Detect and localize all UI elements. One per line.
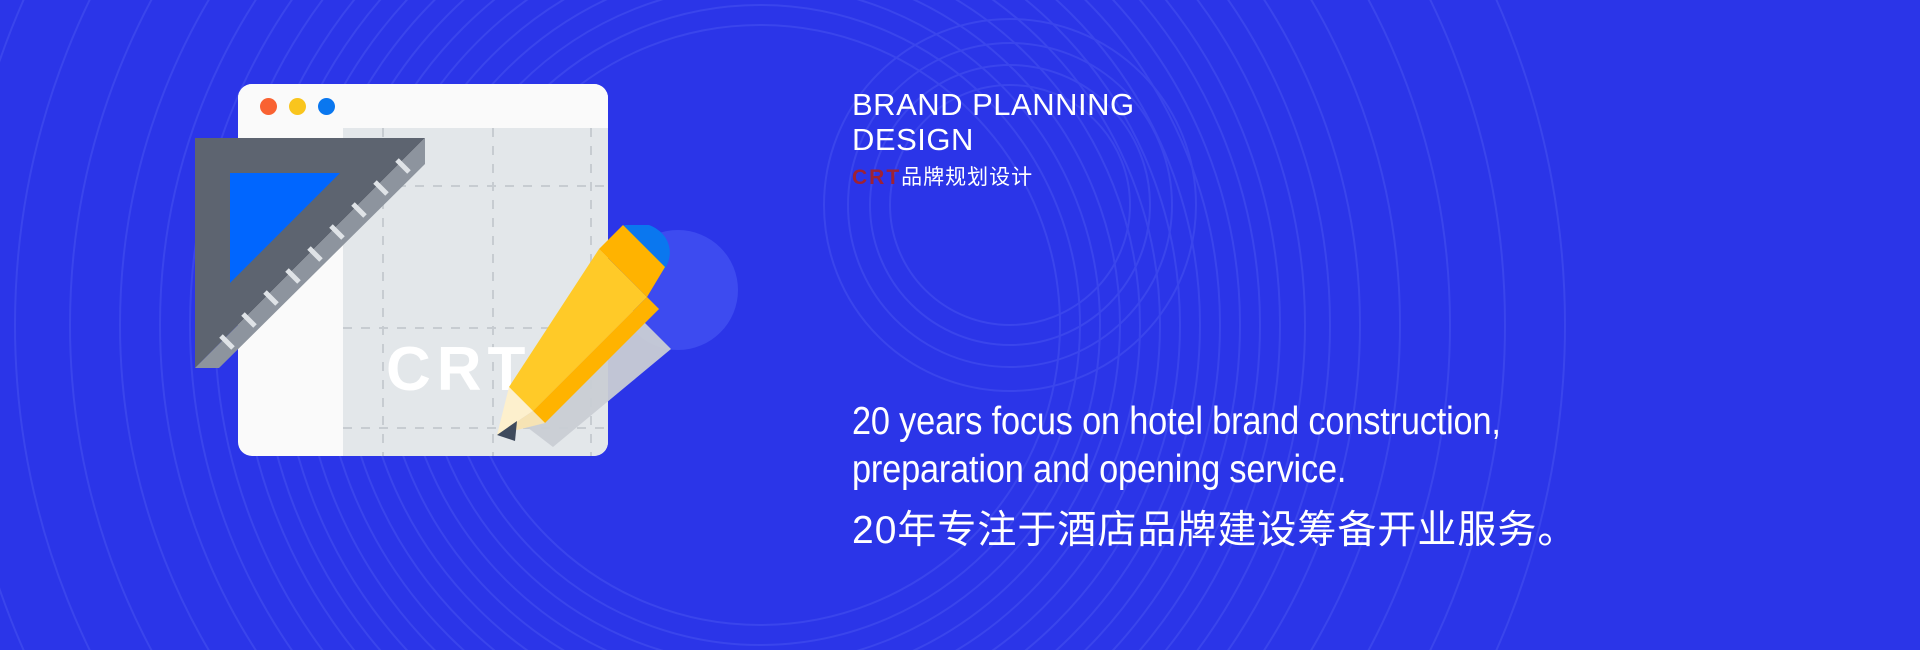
crt-brand-label: CRT xyxy=(852,166,901,189)
minimize-dot-icon xyxy=(289,98,306,115)
headline-block: BRAND PLANNING DESIGN CRT品牌规划设计 xyxy=(852,88,1552,191)
brand-design-illustration: CRT xyxy=(230,80,690,460)
pencil-icon xyxy=(475,225,685,455)
tagline-block: 20 years focus on hotel brand constructi… xyxy=(852,398,1752,555)
close-dot-icon xyxy=(260,98,277,115)
tagline-english: 20 years focus on hotel brand constructi… xyxy=(852,398,1644,493)
headline-subtitle: CRT品牌规划设计 xyxy=(852,165,1552,190)
headline-subtitle-cn: 品牌规划设计 xyxy=(901,166,1033,189)
triangle-ruler-icon xyxy=(185,128,435,378)
headline-title: BRAND PLANNING DESIGN xyxy=(852,88,1552,157)
maximize-dot-icon xyxy=(318,98,335,115)
tagline-chinese: 20年专注于酒店品牌建设筹备开业服务。 xyxy=(852,507,1752,555)
browser-title-bar xyxy=(238,84,608,128)
brand-banner: CRT xyxy=(0,0,1920,650)
